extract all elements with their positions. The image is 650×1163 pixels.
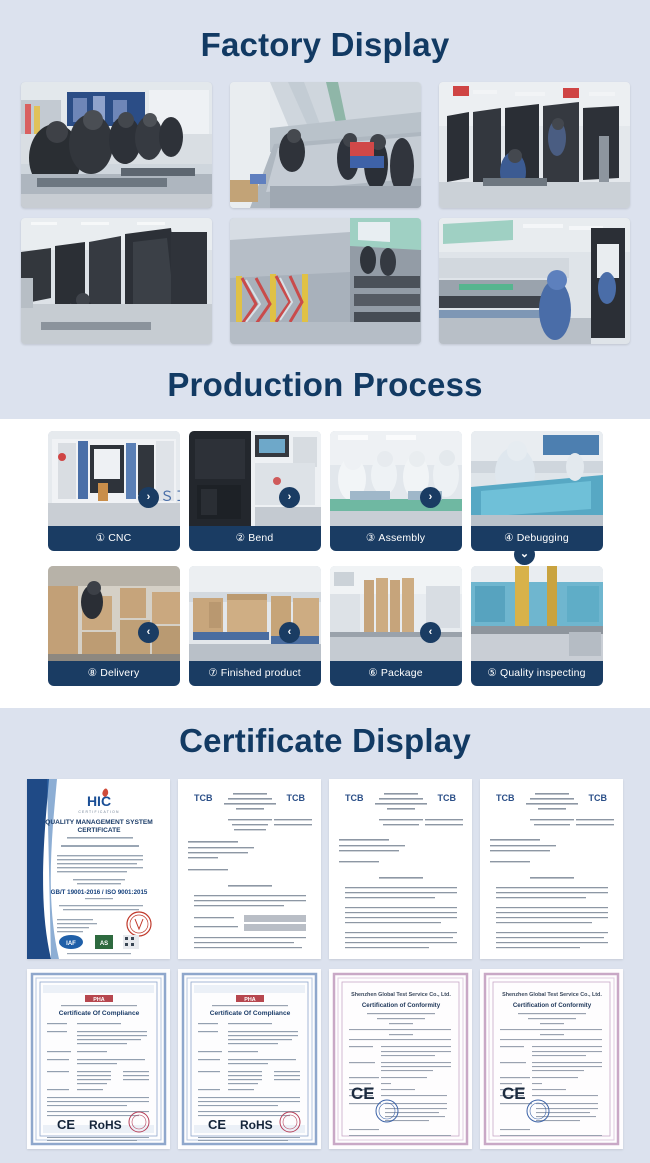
svg-text:ＳＩ: ＳＩ <box>160 488 180 504</box>
factory-photo[interactable] <box>21 218 212 344</box>
factory-photo-row-2 <box>0 218 650 344</box>
svg-text:TCB: TCB <box>287 793 306 803</box>
svg-text:CE: CE <box>57 1117 75 1132</box>
chevron-down-icon: ⌄ <box>514 544 535 565</box>
process-step-finished-product[interactable]: ⑦Finished product <box>189 566 321 686</box>
process-step-label: ①CNC <box>48 526 180 551</box>
process-step-number: ② <box>236 532 246 544</box>
svg-text:Certification of Conformity: Certification of Conformity <box>362 1002 441 1009</box>
process-step-number: ⑤ <box>487 667 497 679</box>
certificate-row-2: PHA Certificate Of Compliance <box>0 969 650 1149</box>
svg-text:CE: CE <box>502 1084 526 1103</box>
factory-photo[interactable] <box>439 82 630 208</box>
process-step-name: Bend <box>248 532 273 544</box>
svg-text:IAF: IAF <box>66 941 76 947</box>
chevron-left-icon: ‹ <box>279 622 300 643</box>
certificate-tcb[interactable]: TCB TCB <box>480 779 623 959</box>
svg-text:AS: AS <box>100 941 108 947</box>
production-process-title: Production Process <box>0 368 650 401</box>
svg-text:HIC: HIC <box>87 793 111 809</box>
process-step-number: ⑥ <box>368 667 378 679</box>
svg-text:TCB: TCB <box>345 793 364 803</box>
process-step-name: Finished product <box>221 667 301 679</box>
factory-photo[interactable] <box>439 218 630 344</box>
process-step-bend[interactable]: ②Bend <box>189 431 321 551</box>
svg-text:PHA: PHA <box>93 997 104 1003</box>
certificate-row-1: HIC CERTIFICATION QUALITY MANAGEMENT SYS… <box>0 779 650 959</box>
certificate-ce-rohs[interactable]: PHA Certificate Of Compliance <box>178 969 321 1149</box>
marketing-page: Factory Display <box>0 0 650 1132</box>
process-row-2: ⑧Delivery <box>0 566 650 686</box>
factory-photo[interactable] <box>230 82 421 208</box>
process-step-name: CNC <box>108 532 131 544</box>
process-step-image <box>48 566 180 661</box>
process-step-number: ③ <box>366 532 376 544</box>
svg-text:CERTIFICATION: CERTIFICATION <box>78 810 119 814</box>
process-step-debugging[interactable]: ④Debugging <box>471 431 603 551</box>
process-step-label: ④Debugging <box>471 526 603 551</box>
certificate-tcb[interactable]: TCB TCB <box>178 779 321 959</box>
certificate-display-title: Certificate Display <box>0 724 650 757</box>
svg-text:Shenzhen Global Test Service C: Shenzhen Global Test Service Co., Ltd. <box>502 992 602 998</box>
process-step-name: Debugging <box>517 532 569 544</box>
factory-photo[interactable] <box>21 82 212 208</box>
process-step-number: ④ <box>504 532 514 544</box>
svg-text:CERTIFICATE: CERTIFICATE <box>77 827 121 834</box>
chevron-left-icon: ‹ <box>138 622 159 643</box>
svg-text:TCB: TCB <box>438 793 457 803</box>
process-step-name: Quality inspecting <box>500 667 586 679</box>
production-process-heading-wrap: Production Process <box>0 354 650 419</box>
svg-text:TCB: TCB <box>589 793 608 803</box>
certificate-ce-conformity[interactable]: Shenzhen Global Test Service Co., Ltd. C… <box>480 969 623 1149</box>
chevron-right-icon: › <box>279 487 300 508</box>
process-step-image <box>189 566 321 661</box>
process-step-number: ① <box>96 532 106 544</box>
process-step-assembly[interactable]: ③Assembly <box>330 431 462 551</box>
process-step-label: ⑤Quality inspecting <box>471 661 603 686</box>
process-step-label: ③Assembly <box>330 526 462 551</box>
certificate-tcb[interactable]: TCB TCB <box>329 779 472 959</box>
factory-display-section: Factory Display <box>0 0 650 344</box>
certificate-ce-rohs[interactable]: PHA Certificate Of Compliance <box>27 969 170 1149</box>
process-step-image <box>330 431 462 526</box>
process-step-cnc[interactable]: ＳＩ ①CNC <box>48 431 180 551</box>
process-step-image: ＳＩ <box>48 431 180 526</box>
svg-text:TCB: TCB <box>496 793 515 803</box>
process-step-label: ⑦Finished product <box>189 661 321 686</box>
process-step-name: Package <box>381 667 423 679</box>
process-step-image <box>330 566 462 661</box>
process-step-name: Assembly <box>378 532 425 544</box>
process-step-image <box>471 431 603 526</box>
svg-text:QUALITY MANAGEMENT SYSTEM: QUALITY MANAGEMENT SYSTEM <box>45 819 153 826</box>
production-process-body: ＳＩ ①CNC <box>0 419 650 708</box>
production-process-section: Production Process <box>0 354 650 708</box>
process-row-1: ＳＩ ①CNC <box>0 431 650 551</box>
process-step-image <box>189 431 321 526</box>
process-step-image <box>471 566 603 661</box>
process-step-name: Delivery <box>100 667 139 679</box>
svg-text:Certificate Of Compliance: Certificate Of Compliance <box>210 1010 291 1017</box>
certificate-display-section: Certificate Display HIC CERTIFICATION QU… <box>0 708 650 1163</box>
process-step-number: ⑦ <box>208 667 218 679</box>
svg-text:CE: CE <box>208 1117 226 1132</box>
process-step-number: ⑧ <box>88 667 98 679</box>
process-step-delivery[interactable]: ⑧Delivery <box>48 566 180 686</box>
factory-photo-row-1 <box>0 82 650 208</box>
svg-text:PHA: PHA <box>244 997 255 1003</box>
process-step-label: ⑧Delivery <box>48 661 180 686</box>
process-step-label: ②Bend <box>189 526 321 551</box>
svg-text:RoHS: RoHS <box>89 1118 122 1132</box>
chevron-left-icon: ‹ <box>420 622 441 643</box>
chevron-right-icon: › <box>138 487 159 508</box>
svg-text:GB/T 19001-2016 / ISO 9001:201: GB/T 19001-2016 / ISO 9001:2015 <box>51 889 148 896</box>
svg-text:TCB: TCB <box>194 793 213 803</box>
factory-photo[interactable] <box>230 218 421 344</box>
svg-text:Certificate Of Compliance: Certificate Of Compliance <box>59 1010 140 1017</box>
factory-display-title: Factory Display <box>0 28 650 61</box>
process-step-package[interactable]: ⑥Package <box>330 566 462 686</box>
certificate-iso9001[interactable]: HIC CERTIFICATION QUALITY MANAGEMENT SYS… <box>27 779 170 959</box>
svg-text:RoHS: RoHS <box>240 1118 273 1132</box>
svg-text:CE: CE <box>351 1084 375 1103</box>
svg-text:Shenzhen Global Test Service C: Shenzhen Global Test Service Co., Ltd. <box>351 992 451 998</box>
chevron-right-icon: › <box>420 487 441 508</box>
process-step-label: ⑥Package <box>330 661 462 686</box>
process-step-quality-inspecting[interactable]: ⑤Quality inspecting <box>471 566 603 686</box>
svg-text:Certification of Conformity: Certification of Conformity <box>513 1002 592 1009</box>
certificate-ce-conformity[interactable]: Shenzhen Global Test Service Co., Ltd. C… <box>329 969 472 1149</box>
